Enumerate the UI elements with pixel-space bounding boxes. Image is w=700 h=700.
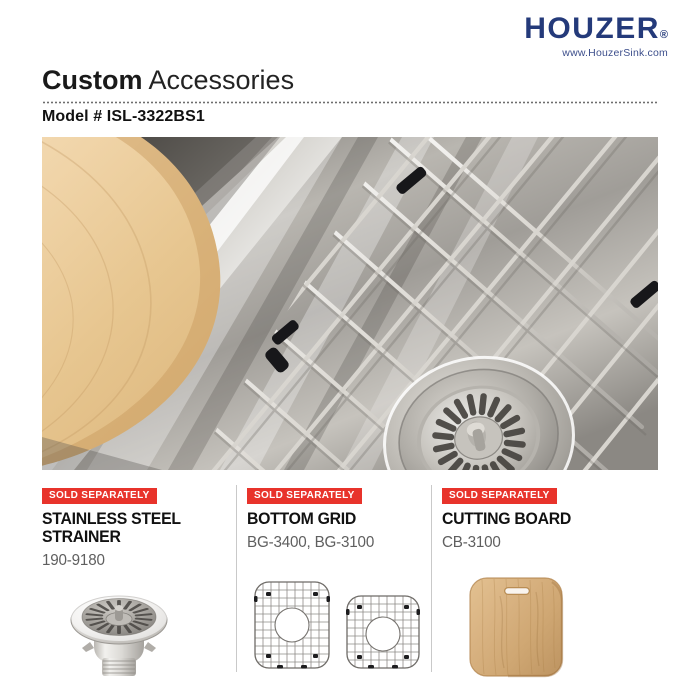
accessory-card-bottom-grid[interactable]: SOLD SEPARATELY BOTTOM GRID BG-3400, BG-… [247, 485, 437, 680]
status-badge: SOLD SEPARATELY [442, 488, 557, 504]
brand-website: www.HouzerSink.com [524, 47, 668, 59]
accessory-card-row: SOLD SEPARATELY STAINLESS STEEL STRAINER… [42, 485, 658, 680]
card-divider [236, 485, 237, 672]
accessory-model: BG-3400, BG-3100 [247, 533, 428, 552]
accessory-title: STAINLESS STEEL STRAINER [42, 510, 219, 546]
status-badge: SOLD SEPARATELY [247, 488, 362, 504]
cutting-board-product-image [448, 572, 638, 680]
dotted-divider [42, 101, 658, 104]
registered-trademark-icon: ® [660, 29, 668, 41]
accessory-card-strainer[interactable]: SOLD SEPARATELY STAINLESS STEEL STRAINER… [42, 485, 232, 680]
accessory-title: CUTTING BOARD [442, 510, 619, 528]
bottom-grid-product-image [247, 572, 437, 680]
hero-photo-illustration [42, 137, 658, 470]
bottom-grid-large [254, 582, 330, 669]
model-number: Model # ISL-3322BS1 [42, 108, 205, 126]
accessory-model: 190-9180 [42, 551, 223, 570]
product-accessories-sheet: HOUZER® www.HouzerSink.com Custom Access… [0, 0, 700, 700]
status-badge: SOLD SEPARATELY [42, 488, 157, 504]
strainer-product-image [46, 572, 236, 680]
brand-logo: HOUZER® www.HouzerSink.com [524, 14, 668, 59]
page-title-regular: Accessories [149, 65, 295, 95]
brand-logo-text: HOUZER [524, 14, 660, 44]
accessory-model: CB-3100 [442, 533, 623, 552]
accessory-title: BOTTOM GRID [247, 510, 424, 528]
page-header: HOUZER® www.HouzerSink.com [0, 0, 700, 60]
bottom-grid-small [346, 596, 420, 669]
accessory-card-cutting-board[interactable]: SOLD SEPARATELY CUTTING BOARD CB-3100 [442, 485, 632, 680]
hero-product-photo [42, 137, 658, 470]
page-title-bold: Custom [42, 65, 143, 95]
page-title: Custom Accessories [42, 63, 658, 97]
